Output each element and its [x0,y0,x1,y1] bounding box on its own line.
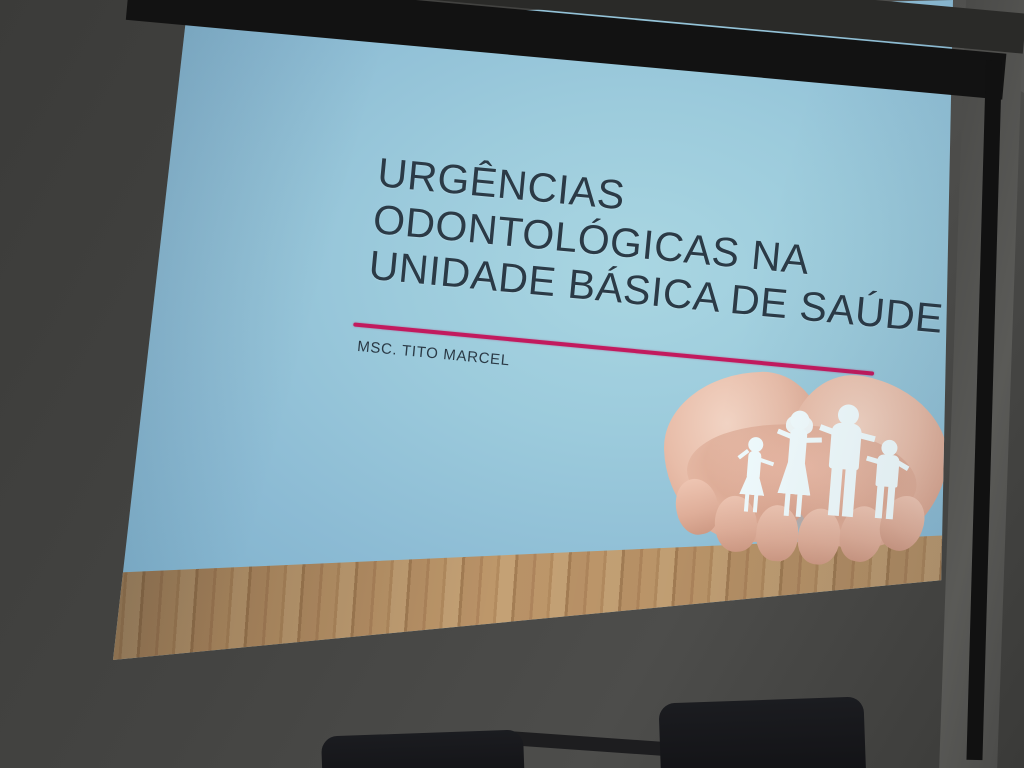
conference-room-scene: URGÊNCIAS ODONTOLÓGICAS NA UNIDADE BÁSIC… [0,0,1024,768]
slide-title: URGÊNCIAS ODONTOLÓGICAS NA UNIDADE BÁSIC… [367,149,938,341]
chair-right [658,696,866,768]
presenter-name: MSC. TITO MARCEL [356,338,510,369]
slide-text-group: URGÊNCIAS ODONTOLÓGICAS NA UNIDADE BÁSIC… [70,0,969,723]
chair-left [321,729,525,768]
projection-screen: URGÊNCIAS ODONTOLÓGICAS NA UNIDADE BÁSIC… [0,0,1024,768]
presentation-slide: URGÊNCIAS ODONTOLÓGICAS NA UNIDADE BÁSIC… [113,0,953,670]
